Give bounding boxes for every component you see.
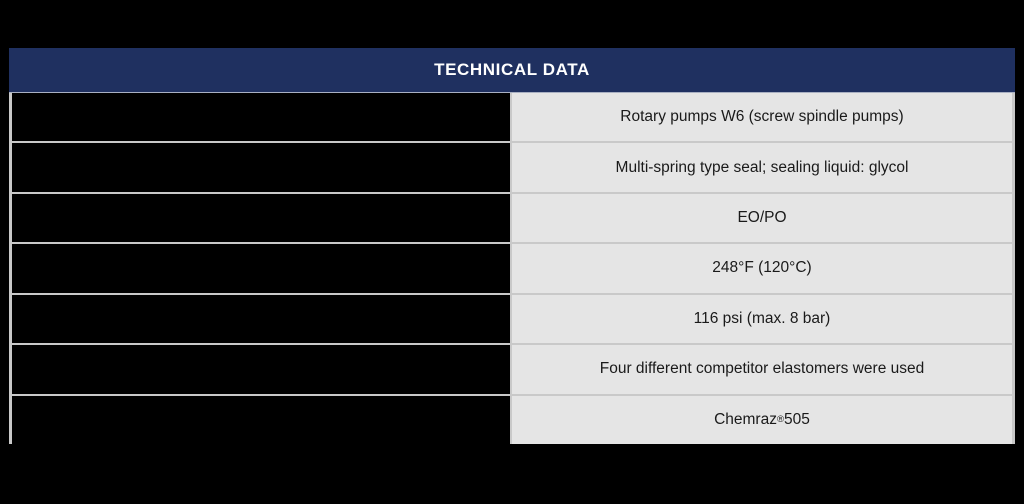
table-cell-value-trademark: Chemraz® 505 [512,396,1015,444]
table-cell-value: Multi-spring type seal; sealing liquid: … [512,143,1015,191]
table-cell-label [9,396,512,444]
table-cell-value: EO/PO [512,194,1015,242]
table-cell-label [9,194,512,242]
table-row: 116 psi (max. 8 bar) [9,295,1015,345]
product-name: Chemraz [714,411,777,429]
table-cell-value: Four different competitor elastomers wer… [512,345,1015,393]
table-cell-label [9,244,512,292]
table-row: EO/PO [9,194,1015,244]
product-number: 505 [784,411,810,429]
table-body: Rotary pumps W6 (screw spindle pumps) Mu… [9,93,1015,444]
table-cell-value: Rotary pumps W6 (screw spindle pumps) [512,93,1015,141]
table-title: TECHNICAL DATA [434,60,590,80]
table-header: TECHNICAL DATA [9,48,1015,93]
page-background: TECHNICAL DATA Rotary pumps W6 (screw sp… [0,0,1024,504]
table-cell-label [9,143,512,191]
table-row: Rotary pumps W6 (screw spindle pumps) [9,93,1015,143]
table-row: Four different competitor elastomers wer… [9,345,1015,395]
table-cell-value: 248°F (120°C) [512,244,1015,292]
table-cell-value: 116 psi (max. 8 bar) [512,295,1015,343]
table-row: 248°F (120°C) [9,244,1015,294]
table-row: Chemraz® 505 [9,396,1015,444]
table-cell-label [9,295,512,343]
table-cell-label [9,345,512,393]
table-cell-label [9,93,512,141]
table-row: Multi-spring type seal; sealing liquid: … [9,143,1015,193]
technical-data-table: TECHNICAL DATA Rotary pumps W6 (screw sp… [9,48,1015,444]
